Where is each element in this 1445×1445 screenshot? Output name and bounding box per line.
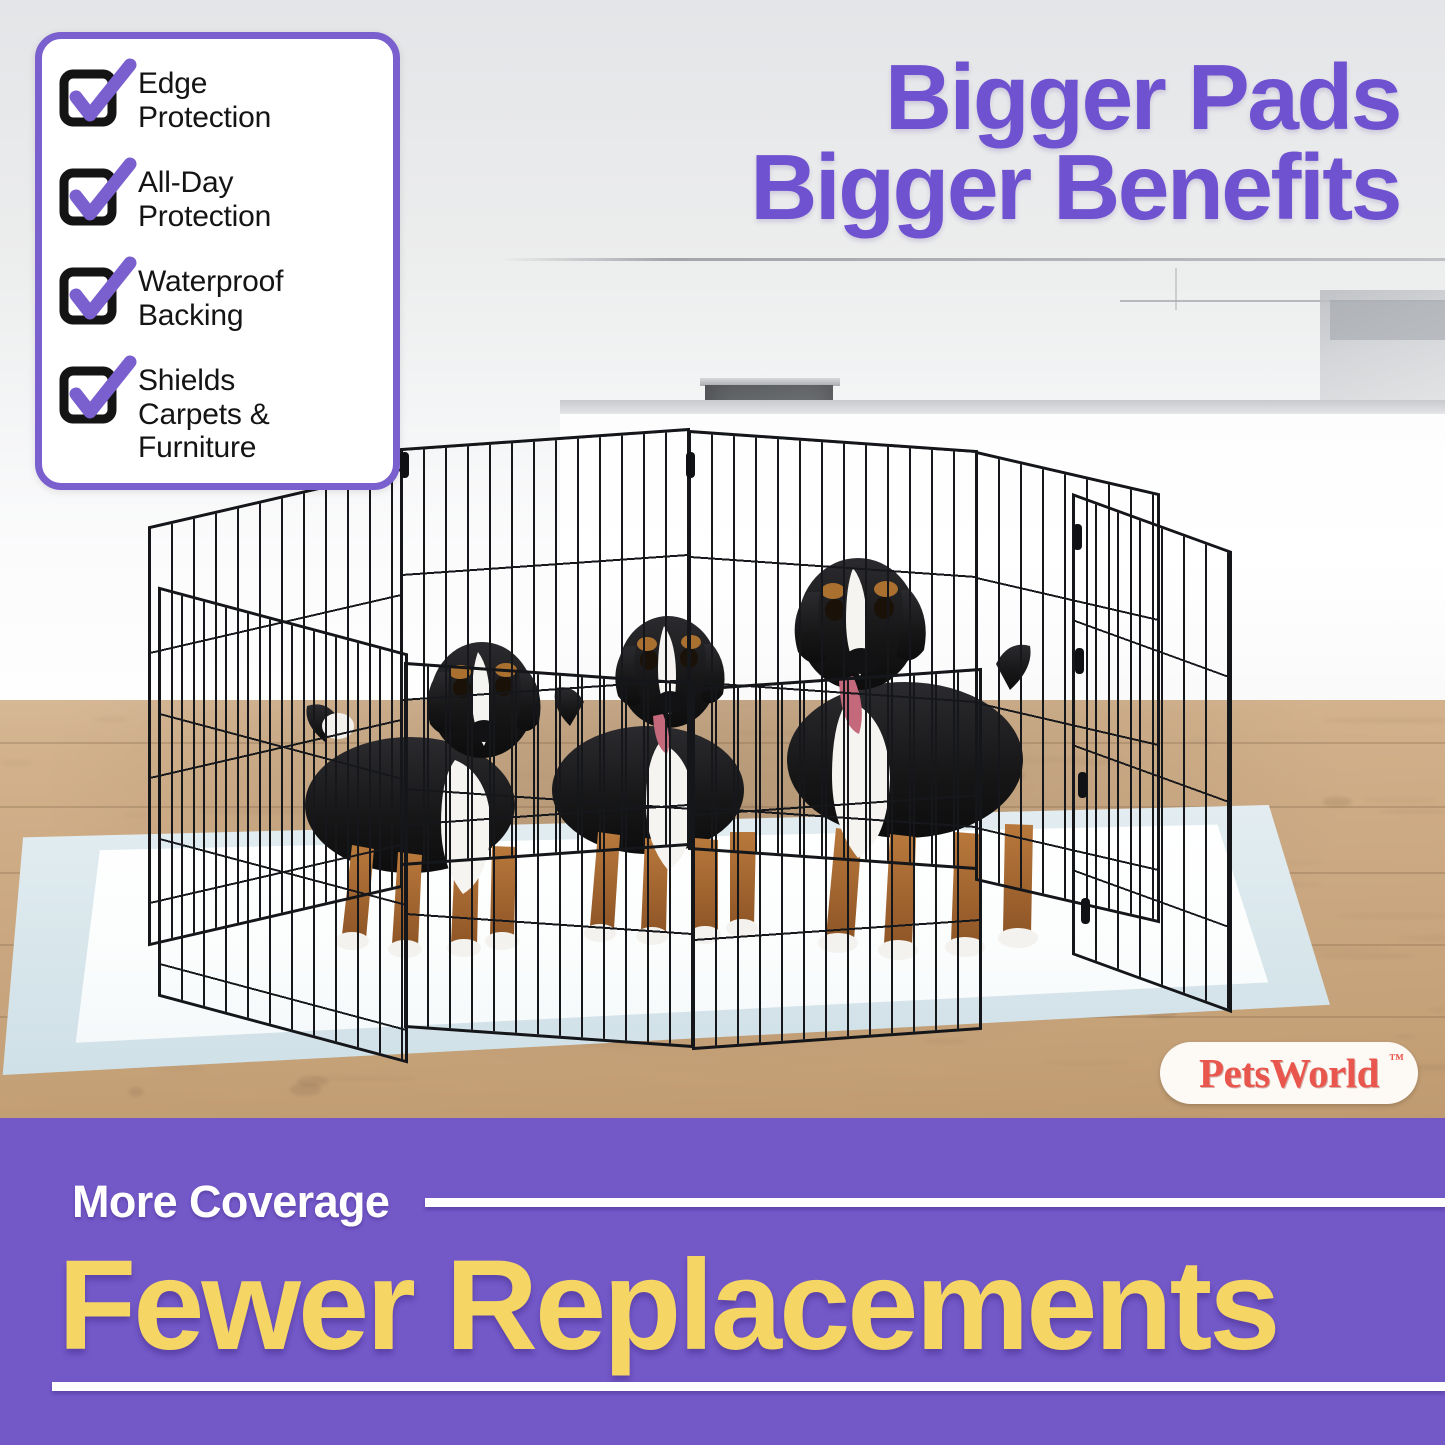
feature-label: Shields Carpets & Furniture	[138, 362, 270, 465]
playpen-hinge	[400, 452, 409, 478]
brand-logo-text: PetsWorld	[1199, 1049, 1379, 1097]
feature-item-all-day-protection: All-Day Protection	[60, 164, 377, 233]
banner-kicker-text: More Coverage	[72, 1176, 389, 1228]
playpen-panel-front-right	[692, 668, 982, 1050]
banner-headline-text: Fewer Replacements	[58, 1242, 1445, 1370]
feature-item-shields-carpets-furniture: Shields Carpets & Furniture	[60, 362, 377, 465]
playpen-hinge	[686, 452, 695, 478]
banner-rule-bottom	[52, 1382, 1445, 1391]
checkbox-checked-icon	[60, 67, 120, 123]
trademark-symbol: ™	[1389, 1052, 1404, 1069]
headline-line-2: Bigger Benefits	[470, 142, 1400, 232]
checkbox-checked-icon	[60, 364, 120, 420]
banner-kicker-row: More Coverage	[0, 1176, 1445, 1228]
feature-item-edge-protection: Edge Protection	[60, 65, 377, 134]
feature-item-waterproof-backing: Waterproof Backing	[60, 263, 377, 332]
playpen-panel-front	[404, 662, 694, 1048]
brand-logo: PetsWorld ™	[1160, 1042, 1418, 1104]
playpen-panel-far-right	[1072, 493, 1232, 1013]
feature-label: Edge Protection	[138, 65, 271, 134]
playpen-panel-front-left	[158, 587, 408, 1064]
banner-rule-top	[425, 1198, 1445, 1207]
checkbox-checked-icon	[60, 265, 120, 321]
checkbox-checked-icon	[60, 166, 120, 222]
feature-label: Waterproof Backing	[138, 263, 283, 332]
playpen-hinge	[1081, 898, 1090, 924]
page-title: Bigger Pads Bigger Benefits	[470, 52, 1400, 232]
features-card: Edge Protection All-Day Protection Water…	[35, 32, 400, 490]
playpen-hinge	[1078, 772, 1087, 798]
headline-line-1: Bigger Pads	[885, 45, 1400, 149]
bottom-banner: More Coverage Fewer Replacements	[0, 1118, 1445, 1445]
playpen-hinge	[1073, 524, 1082, 550]
product-ad-canvas: PetsWorld ™ Bigger Pads Bigger Benefits …	[0, 0, 1445, 1445]
playpen-hinge	[1075, 648, 1084, 674]
feature-label: All-Day Protection	[138, 164, 271, 233]
